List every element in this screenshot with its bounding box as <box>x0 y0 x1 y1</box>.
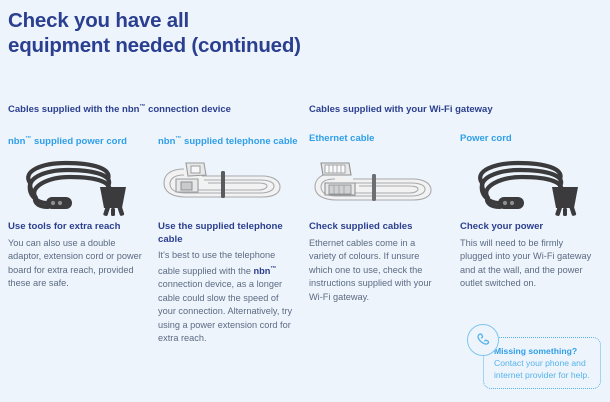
page-title-line-2: equipment needed (continued) <box>8 33 528 58</box>
column-label-text: Ethernet cable <box>309 133 374 144</box>
column-body: You can also use a double adaptor, exten… <box>8 237 143 291</box>
group-header-wifi-gateway: Cables supplied with your Wi-Fi gateway <box>309 104 493 115</box>
group-header-nbn-connection-device: Cables supplied with the nbn™ connection… <box>8 104 231 115</box>
callout-title: Missing something? <box>494 346 593 357</box>
column-label-nbn: nbn <box>158 136 175 147</box>
group-header-text-before: Cables supplied with your Wi-Fi gateway <box>309 104 493 115</box>
column-body-part-2: connection device, as a longer cable cou… <box>158 279 292 343</box>
equipment-checklist-page: Check you have all equipment needed (con… <box>0 0 610 402</box>
column-nbn-power-cord: nbn™ supplied power cord <box>8 133 143 291</box>
column-body: It's best to use the telephone cable sup… <box>158 249 293 346</box>
column-label: nbn™ supplied telephone cable <box>158 133 293 147</box>
telephone-cable-image <box>158 151 293 219</box>
missing-something-callout: Missing something? Contact your phone an… <box>483 337 601 389</box>
nbn-wordmark: nbn <box>254 266 271 276</box>
column-power-cord: Power cord <box>460 133 595 291</box>
column-label-text: supplied power cord <box>31 136 127 147</box>
column-nbn-telephone-cable: nbn™ supplied telephone cable <box>158 133 293 346</box>
ethernet-cable-image <box>309 151 444 219</box>
power-cord-image <box>460 151 595 219</box>
phone-handset-icon <box>467 324 499 356</box>
column-heading: Use the supplied telephone cable <box>158 221 293 246</box>
column-label-text: Power cord <box>460 133 512 144</box>
column-label: Ethernet cable <box>309 133 444 147</box>
column-ethernet-cable: Ethernet cable <box>309 133 444 304</box>
page-title-line-1: Check you have all <box>8 8 528 33</box>
page-title: Check you have all equipment needed (con… <box>8 8 528 58</box>
group-header-text-before: Cables supplied with the <box>8 104 122 115</box>
column-body: This will need to be firmly plugged into… <box>460 237 595 291</box>
column-heading: Check supplied cables <box>309 221 444 234</box>
nbn-wordmark: nbn <box>122 104 139 115</box>
trademark-symbol: ™ <box>270 266 276 272</box>
column-label: nbn™ supplied power cord <box>8 133 143 147</box>
column-label-text: supplied telephone cable <box>181 136 297 147</box>
callout-body: Contact your phone and internet provider… <box>494 358 593 381</box>
column-label-nbn: nbn <box>8 136 25 147</box>
column-label: Power cord <box>460 133 595 147</box>
column-heading: Check your power <box>460 221 595 234</box>
power-cord-image <box>8 151 143 219</box>
column-heading: Use tools for extra reach <box>8 221 143 234</box>
group-header-text-after: connection device <box>145 104 231 115</box>
column-body: Ethernet cables come in a variety of col… <box>309 237 444 305</box>
